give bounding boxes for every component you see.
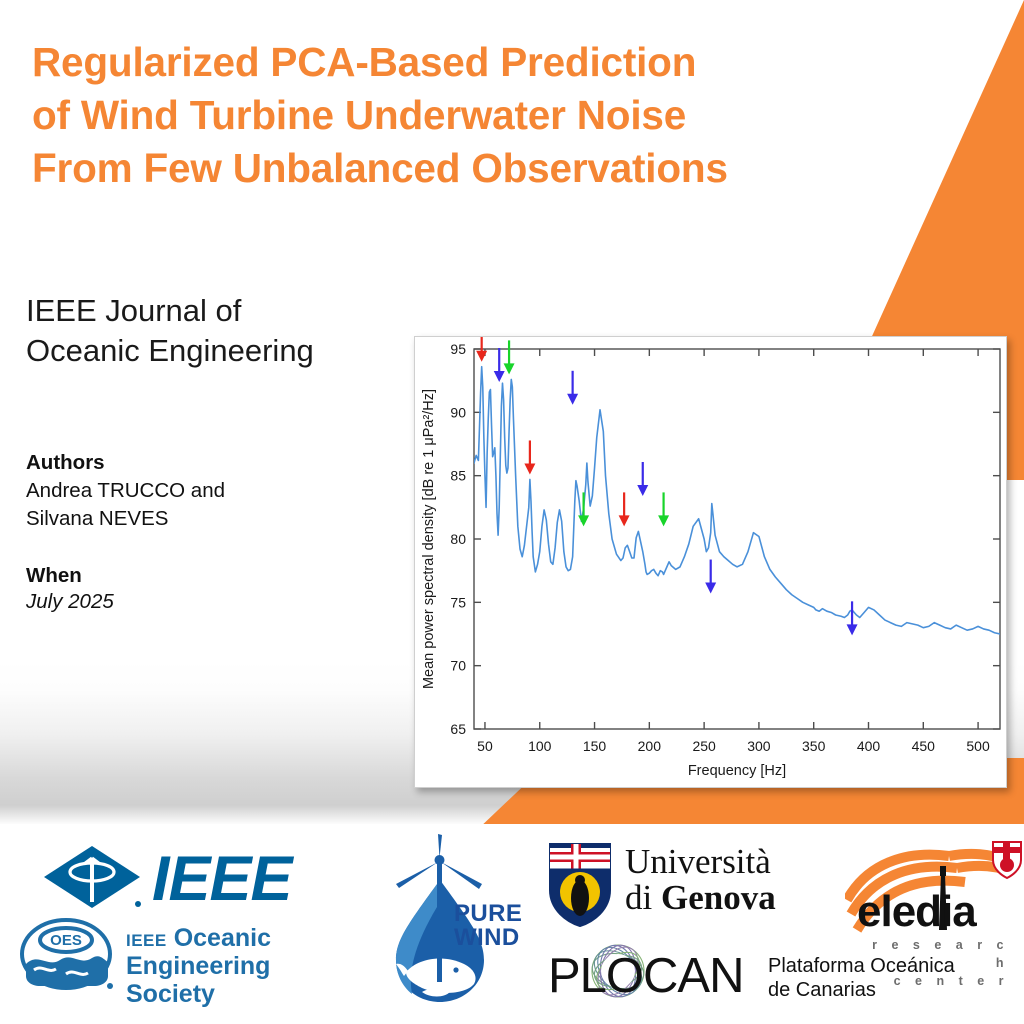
svg-text:50: 50 xyxy=(477,738,493,754)
svg-text:70: 70 xyxy=(450,658,466,674)
oes-text-line-1: IEEE Oceanic xyxy=(126,924,356,952)
plocan-logo: PLOCAN Plataforma Oceánica de Canarias xyxy=(540,938,1010,1014)
unige-di: di xyxy=(625,878,661,917)
svg-text:90: 90 xyxy=(450,404,466,420)
purewind-line-1: PURE xyxy=(454,902,522,926)
svg-text:200: 200 xyxy=(638,738,662,754)
svg-text:100: 100 xyxy=(528,738,552,754)
svg-text:95: 95 xyxy=(450,341,466,357)
metadata-block: Authors Andrea TRUCCO and Silvana NEVES … xyxy=(26,449,406,614)
purewind-logo: PURE WIND xyxy=(378,832,538,1012)
plocan-tagline: Plataforma Oceánica de Canarias xyxy=(768,954,955,1003)
chart-card: 65707580859095 5010015020025030035040045… xyxy=(414,336,1007,788)
svg-text:300: 300 xyxy=(747,738,771,754)
ieee-diamond-icon xyxy=(40,842,150,912)
journal-name: IEEE Journal of Oceanic Engineering xyxy=(26,291,406,372)
unige-line-2: di Genova xyxy=(625,880,776,916)
oes-wave-icon: OES xyxy=(18,916,118,994)
oes-oceanic: Oceanic xyxy=(174,924,271,952)
svg-text:80: 80 xyxy=(450,531,466,547)
unige-genova: Genova xyxy=(661,878,776,917)
plocan-wordmark: PLOCAN xyxy=(548,952,744,1001)
plocan-tagline-line-1: Plataforma Oceánica xyxy=(768,954,955,978)
x-axis-label: Frequency [Hz] xyxy=(688,763,786,779)
title-line-1: Regularized PCA-Based Prediction xyxy=(32,36,882,89)
eledia-main-text: eledia xyxy=(857,890,1009,934)
ieee-wordmark: IEEE xyxy=(152,848,292,911)
svg-text:500: 500 xyxy=(966,738,990,754)
plocan-tagline-line-2: de Canarias xyxy=(768,978,955,1002)
journal-line-1: IEEE Journal of xyxy=(26,291,406,331)
unige-wordmark: Università di Genova xyxy=(625,844,776,917)
oes-text-line-2: Engineering Society xyxy=(126,952,356,1008)
ieee-logo: IEEE xyxy=(40,842,340,912)
author-line-2: Silvana NEVES xyxy=(26,505,406,533)
oes-logo: OES IEEE Oceanic Engineering Society xyxy=(18,916,348,996)
oes-ieee-prefix: IEEE xyxy=(126,931,167,950)
author-line-1: Andrea TRUCCO and xyxy=(26,477,406,505)
svg-text:350: 350 xyxy=(802,738,826,754)
y-axis-label: Mean power spectral density [dB re 1 μPa… xyxy=(421,389,437,689)
unige-line-1: Università xyxy=(625,844,776,880)
psd-chart: 65707580859095 5010015020025030035040045… xyxy=(415,337,1006,787)
svg-text:65: 65 xyxy=(450,721,466,737)
purewind-line-2: WIND xyxy=(454,926,522,950)
page-title: Regularized PCA-Based Prediction of Wind… xyxy=(32,36,882,195)
meta-spacer xyxy=(26,533,406,562)
oes-society-text: IEEE Oceanic Engineering Society xyxy=(126,924,356,1008)
authors-heading: Authors xyxy=(26,449,406,477)
title-line-2: of Wind Turbine Underwater Noise xyxy=(32,89,882,142)
eledia-logo: eledia r e s e a r c h c e n t e r xyxy=(845,838,1024,948)
svg-text:85: 85 xyxy=(450,468,466,484)
unige-crest-icon xyxy=(545,840,615,930)
title-line-3: From Few Unbalanced Observations xyxy=(32,142,882,195)
svg-text:75: 75 xyxy=(450,594,466,610)
svg-text:150: 150 xyxy=(583,738,607,754)
journal-line-2: Oceanic Engineering xyxy=(26,331,406,371)
svg-text:400: 400 xyxy=(857,738,881,754)
footer-logo-bar: IEEE OES IEEE Oceanic Engineering Societ… xyxy=(0,824,1024,1024)
when-value: July 2025 xyxy=(26,590,406,614)
svg-text:250: 250 xyxy=(692,738,716,754)
svg-text:OES: OES xyxy=(50,932,82,949)
poster-slide: Regularized PCA-Based Prediction of Wind… xyxy=(0,0,1024,1024)
when-heading: When xyxy=(26,562,406,590)
purewind-wordmark: PURE WIND xyxy=(454,902,522,951)
unige-logo: Università di Genova xyxy=(545,838,845,938)
svg-text:450: 450 xyxy=(912,738,936,754)
